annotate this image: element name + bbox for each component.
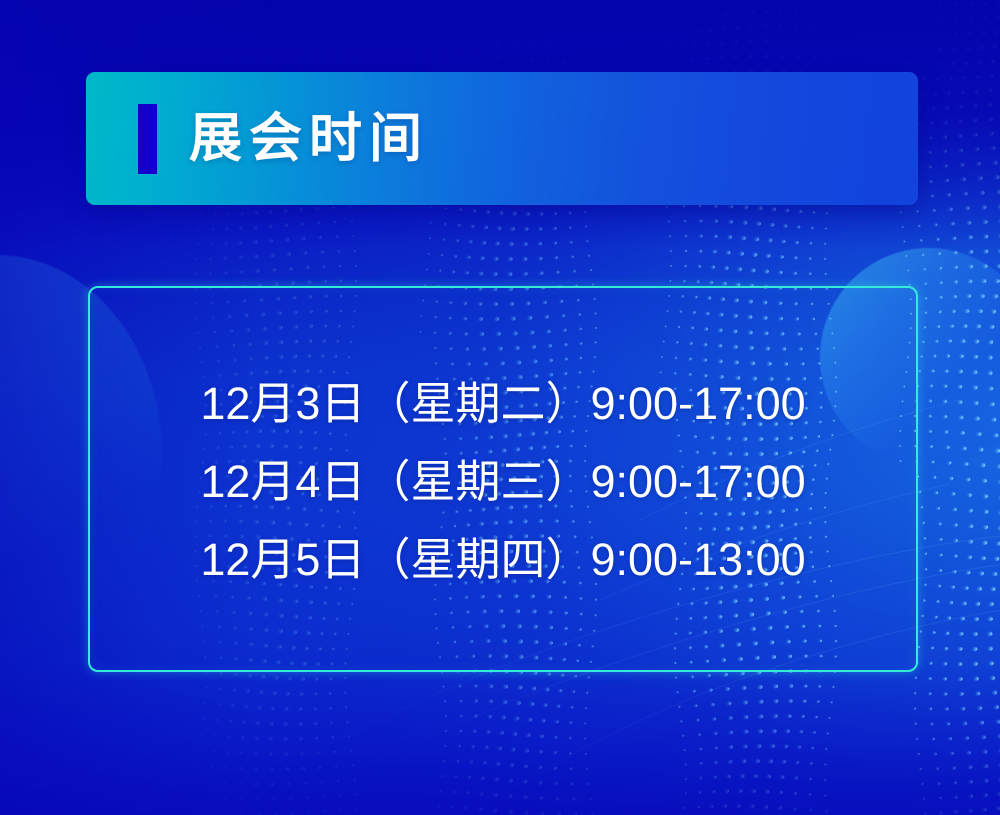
schedule-panel: 12月3日（星期二）9:00-17:00 12月4日（星期三）9:00-17:0… xyxy=(88,286,918,672)
page-title: 展会时间 xyxy=(189,112,429,165)
schedule-list: 12月3日（星期二）9:00-17:00 12月4日（星期三）9:00-17:0… xyxy=(200,381,805,582)
header-accent-bar xyxy=(138,104,157,174)
schedule-row: 12月3日（星期二）9:00-17:00 xyxy=(200,381,805,426)
schedule-row: 12月4日（星期三）9:00-17:00 xyxy=(200,459,805,504)
section-header-bar: 展会时间 xyxy=(86,72,918,205)
schedule-row: 12月5日（星期四）9:00-13:00 xyxy=(200,537,805,582)
poster-canvas: 展会时间 12月3日（星期二）9:00-17:00 12月4日（星期三）9:00… xyxy=(0,0,1000,815)
